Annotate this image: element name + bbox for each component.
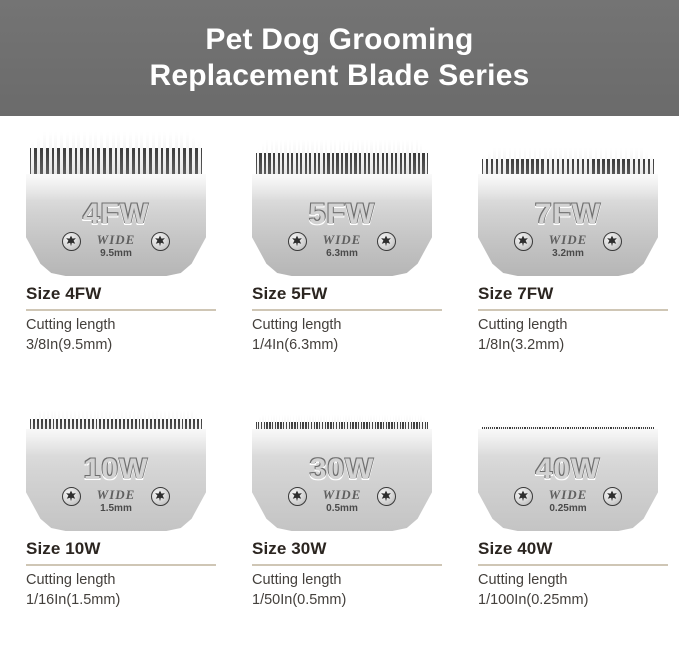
- caption-cutting-length-label: Cutting length: [252, 311, 442, 335]
- caption-title: Size 10W: [26, 539, 216, 564]
- blade-image-40w: 40WWIDE0.25mm: [478, 401, 658, 531]
- product-grid: 4FWWIDE9.5mmSize 4FWCutting length3/8In(…: [0, 116, 679, 637]
- product-caption: Size 40WCutting length1/100In(0.25mm): [478, 539, 668, 610]
- header-title-line-2: Replacement Blade Series: [150, 58, 530, 94]
- blade-screw-icon: [514, 487, 533, 506]
- blade-mm-label: 6.3mm: [252, 248, 432, 259]
- blade-mm-label: 0.5mm: [252, 503, 432, 514]
- blade-model-label: 4FW: [26, 198, 206, 232]
- blade-screw-icon: [288, 487, 307, 506]
- product-row-bottom: 10WWIDE1.5mmSize 10WCutting length1/16In…: [0, 401, 679, 651]
- blade-wide-label: WIDE: [252, 487, 432, 503]
- product-row-top: 4FWWIDE9.5mmSize 4FWCutting length3/8In(…: [0, 146, 679, 396]
- product-cell-4fw[interactable]: 4FWWIDE9.5mmSize 4FWCutting length3/8In(…: [23, 146, 226, 396]
- product-cell-30w[interactable]: 30WWIDE0.5mmSize 30WCutting length1/50In…: [249, 401, 452, 651]
- blade-screw-icon: [62, 232, 81, 251]
- caption-cutting-length-label: Cutting length: [26, 311, 216, 335]
- blade-wide-label: WIDE: [478, 487, 658, 503]
- blade-model-label: 40W: [478, 453, 658, 487]
- blade-screw-icon: [288, 232, 307, 251]
- blade-model-label: 7FW: [478, 198, 658, 232]
- blade-image-30w: 30WWIDE0.5mm: [252, 401, 432, 531]
- caption-title: Size 5FW: [252, 284, 442, 309]
- product-cell-40w[interactable]: 40WWIDE0.25mmSize 40WCutting length1/100…: [475, 401, 678, 651]
- blade-screw-icon: [514, 232, 533, 251]
- caption-cutting-length-value: 1/50In(0.5mm): [252, 590, 442, 610]
- blade-model-label: 30W: [252, 453, 432, 487]
- caption-title: Size 30W: [252, 539, 442, 564]
- caption-cutting-length-value: 1/16In(1.5mm): [26, 590, 216, 610]
- blade-mm-label: 3.2mm: [478, 248, 658, 259]
- caption-title: Size 40W: [478, 539, 668, 564]
- caption-cutting-length-label: Cutting length: [26, 566, 216, 590]
- blade-screw-icon: [377, 232, 396, 251]
- product-cell-7fw[interactable]: 7FWWIDE3.2mmSize 7FWCutting length1/8In(…: [475, 146, 678, 396]
- product-caption: Size 7FWCutting length1/8In(3.2mm): [478, 284, 668, 355]
- blade-model-label: 5FW: [252, 198, 432, 232]
- caption-title: Size 4FW: [26, 284, 216, 309]
- blade-mm-label: 9.5mm: [26, 248, 206, 259]
- blade-image-10w: 10WWIDE1.5mm: [26, 401, 206, 531]
- caption-cutting-length-label: Cutting length: [478, 311, 668, 335]
- caption-title: Size 7FW: [478, 284, 668, 309]
- caption-cutting-length-value: 1/4In(6.3mm): [252, 335, 442, 355]
- blade-image-4fw: 4FWWIDE9.5mm: [26, 146, 206, 276]
- blade-wide-label: WIDE: [478, 232, 658, 248]
- product-caption: Size 5FWCutting length1/4In(6.3mm): [252, 284, 442, 355]
- product-caption: Size 10WCutting length1/16In(1.5mm): [26, 539, 216, 610]
- caption-cutting-length-value: 1/100In(0.25mm): [478, 590, 668, 610]
- blade-screw-icon: [151, 232, 170, 251]
- blade-wide-label: WIDE: [26, 487, 206, 503]
- header-title-line-1: Pet Dog Grooming: [205, 22, 473, 58]
- blade-mm-label: 1.5mm: [26, 503, 206, 514]
- blade-screw-icon: [603, 487, 622, 506]
- blade-image-7fw: 7FWWIDE3.2mm: [478, 146, 658, 276]
- header-banner: Pet Dog Grooming Replacement Blade Serie…: [0, 0, 679, 116]
- blade-model-label: 10W: [26, 453, 206, 487]
- blade-screw-icon: [62, 487, 81, 506]
- blade-screw-icon: [151, 487, 170, 506]
- blade-image-5fw: 5FWWIDE6.3mm: [252, 146, 432, 276]
- blade-wide-label: WIDE: [26, 232, 206, 248]
- product-cell-10w[interactable]: 10WWIDE1.5mmSize 10WCutting length1/16In…: [23, 401, 226, 651]
- caption-cutting-length-label: Cutting length: [478, 566, 668, 590]
- caption-cutting-length-label: Cutting length: [252, 566, 442, 590]
- blade-screw-icon: [377, 487, 396, 506]
- product-caption: Size 30WCutting length1/50In(0.5mm): [252, 539, 442, 610]
- caption-cutting-length-value: 3/8In(9.5mm): [26, 335, 216, 355]
- product-cell-5fw[interactable]: 5FWWIDE6.3mmSize 5FWCutting length1/4In(…: [249, 146, 452, 396]
- blade-mm-label: 0.25mm: [478, 503, 658, 514]
- blade-screw-icon: [603, 232, 622, 251]
- caption-cutting-length-value: 1/8In(3.2mm): [478, 335, 668, 355]
- product-caption: Size 4FWCutting length3/8In(9.5mm): [26, 284, 216, 355]
- blade-wide-label: WIDE: [252, 232, 432, 248]
